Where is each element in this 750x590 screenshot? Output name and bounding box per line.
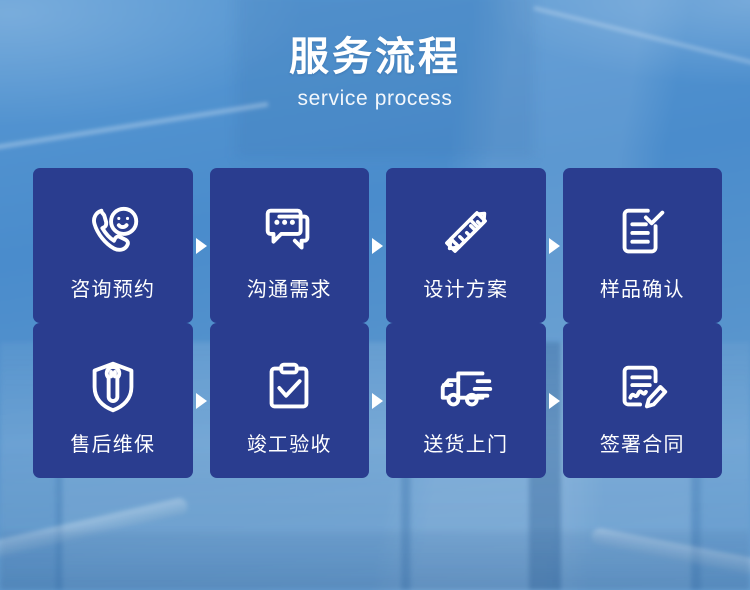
- banner-header: 服务流程 service process: [0, 34, 750, 110]
- arrow-right-icon: [369, 323, 386, 478]
- arrow-right-icon: [546, 323, 563, 478]
- contract-pen-icon: [608, 353, 676, 421]
- process-step-card-2[interactable]: 沟通需求: [210, 168, 370, 323]
- service-process-banner: 服务流程 service process 咨询预约: [0, 0, 750, 590]
- process-row-2: 售后维保 竣工验收: [33, 323, 722, 478]
- arrow-right-icon: [369, 168, 386, 323]
- arrow-right-icon: [193, 323, 210, 478]
- phone-smiley-icon: [79, 198, 147, 266]
- process-step-label: 竣工验收: [247, 435, 332, 455]
- pencil-ruler-icon: [432, 198, 500, 266]
- process-step-card-7[interactable]: 竣工验收: [210, 323, 370, 478]
- shield-wrench-icon: [79, 353, 147, 421]
- process-step-label: 样品确认: [600, 280, 685, 300]
- process-step-card-1[interactable]: 咨询预约: [33, 168, 193, 323]
- arrow-right-icon: [546, 168, 563, 323]
- arrow-right-icon: [193, 168, 210, 323]
- process-step-grid: 咨询预约 沟通需求: [33, 168, 722, 478]
- process-row-1: 咨询预约 沟通需求: [33, 168, 722, 323]
- delivery-truck-icon: [432, 353, 500, 421]
- chat-bubbles-icon: [255, 198, 323, 266]
- process-step-label: 咨询预约: [70, 280, 155, 300]
- process-step-label: 沟通需求: [247, 280, 332, 300]
- page-subtitle: service process: [0, 87, 750, 110]
- process-step-card-8[interactable]: 售后维保: [33, 323, 193, 478]
- process-step-label: 售后维保: [70, 435, 155, 455]
- page-title: 服务流程: [0, 34, 750, 80]
- process-step-card-3[interactable]: 设计方案: [386, 168, 546, 323]
- clipboard-check-icon: [255, 353, 323, 421]
- process-step-label: 设计方案: [423, 280, 508, 300]
- document-check-icon: [608, 198, 676, 266]
- process-step-label: 签署合同: [600, 435, 685, 455]
- background-floor: [0, 532, 750, 590]
- process-step-card-4[interactable]: 样品确认: [563, 168, 723, 323]
- process-step-card-6[interactable]: 送货上门: [386, 323, 546, 478]
- process-step-card-5[interactable]: 签署合同: [563, 323, 723, 478]
- process-step-label: 送货上门: [423, 435, 508, 455]
